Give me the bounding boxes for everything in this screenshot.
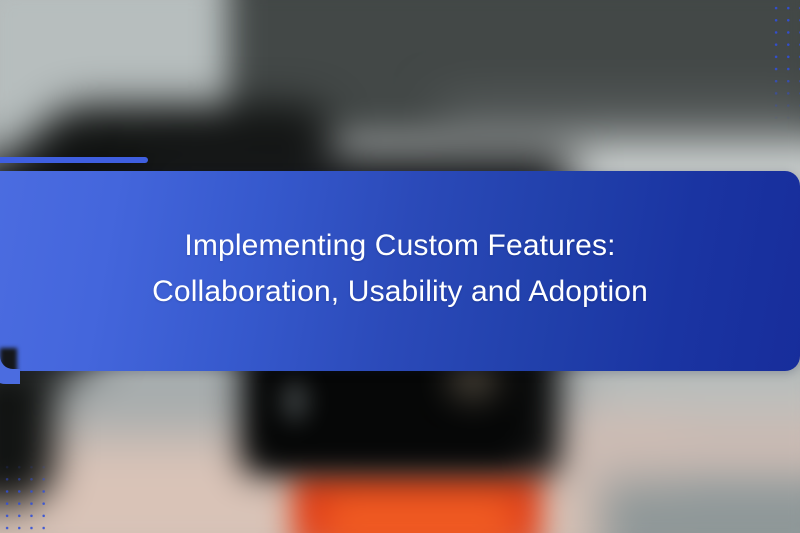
page-title: Implementing Custom Features: Collaborat… <box>92 223 708 315</box>
title-card: Implementing Custom Features: Collaborat… <box>0 171 800 371</box>
accent-bar <box>0 157 148 163</box>
dot-pattern-top-right-icon <box>770 2 800 122</box>
screenshot-canvas: Implementing Custom Features: Collaborat… <box>0 0 800 533</box>
dot-pattern-bottom-left-icon <box>1 461 47 533</box>
page-title-line-1: Implementing Custom Features: <box>152 223 648 269</box>
page-title-line-2: Collaboration, Usability and Adoption <box>152 269 648 315</box>
